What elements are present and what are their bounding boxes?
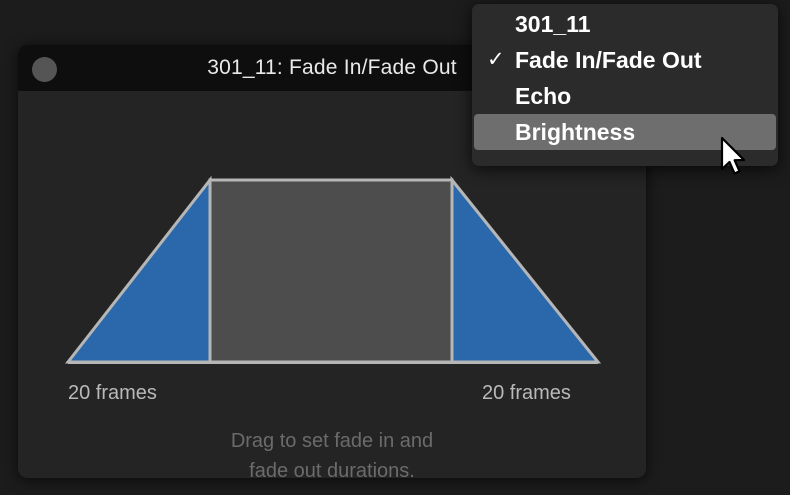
menu-item-label: Fade In/Fade Out bbox=[515, 42, 702, 78]
fade-in-duration-label: 20 frames bbox=[68, 382, 157, 405]
menu-item-301-11[interactable]: 301_11 bbox=[474, 6, 776, 42]
effect-dropdown-menu[interactable]: 301_11 ✓ Fade In/Fade Out Echo Brightnes… bbox=[472, 4, 778, 166]
hint-text: Drag to set fade in and fade out duratio… bbox=[18, 426, 646, 478]
fade-out-region[interactable] bbox=[452, 180, 598, 362]
menu-item-label: Echo bbox=[515, 78, 571, 114]
menu-item-echo[interactable]: Echo bbox=[474, 78, 776, 114]
menu-item-brightness[interactable]: Brightness bbox=[474, 114, 776, 150]
hint-line-2: fade out durations. bbox=[18, 456, 646, 478]
screen-root: 301_11: Fade In/Fade Out 20 frames 20 fr… bbox=[0, 0, 790, 495]
hint-line-1: Drag to set fade in and bbox=[18, 426, 646, 456]
menu-item-label: Brightness bbox=[515, 114, 635, 150]
fade-out-duration-label: 20 frames bbox=[482, 382, 571, 405]
menu-item-label: 301_11 bbox=[515, 6, 590, 42]
sustain-region bbox=[210, 180, 452, 362]
fade-in-region[interactable] bbox=[68, 180, 210, 362]
checkmark-icon: ✓ bbox=[487, 42, 505, 78]
menu-item-fade-in-fade-out[interactable]: ✓ Fade In/Fade Out bbox=[474, 42, 776, 78]
